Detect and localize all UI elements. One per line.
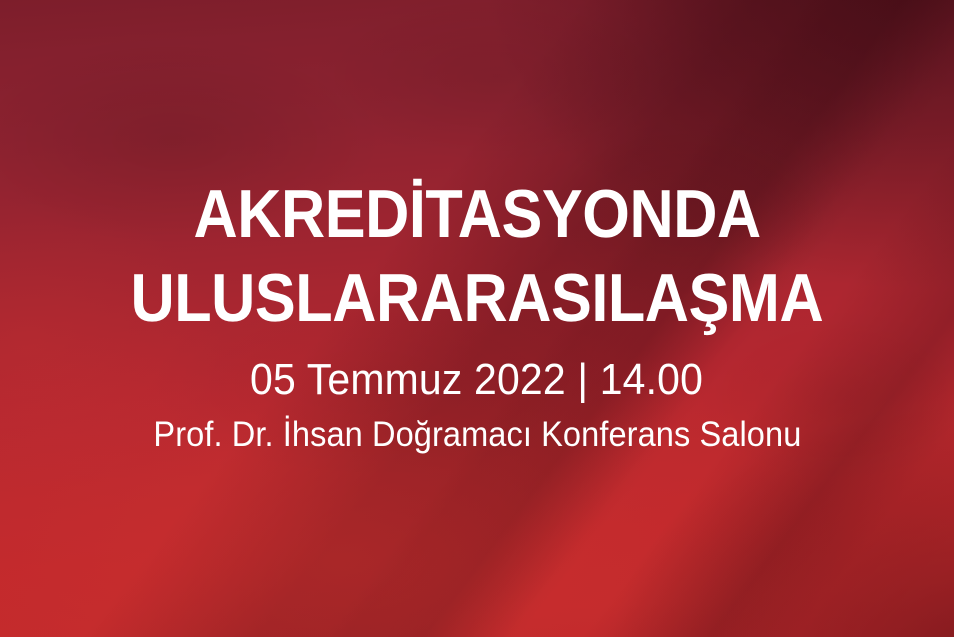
event-banner: AKREDİTASYONDA ULUSLARARASILAŞMA 05 Temm… [0,0,954,637]
event-datetime: 05 Temmuz 2022 | 14.00 [250,352,703,408]
banner-content: AKREDİTASYONDA ULUSLARARASILAŞMA 05 Temm… [0,0,954,637]
event-venue: Prof. Dr. İhsan Doğramacı Konferans Salo… [153,412,801,458]
headline-line-2: ULUSLARARASILAŞMA [131,256,824,340]
headline-line-1: AKREDİTASYONDA [193,172,760,256]
